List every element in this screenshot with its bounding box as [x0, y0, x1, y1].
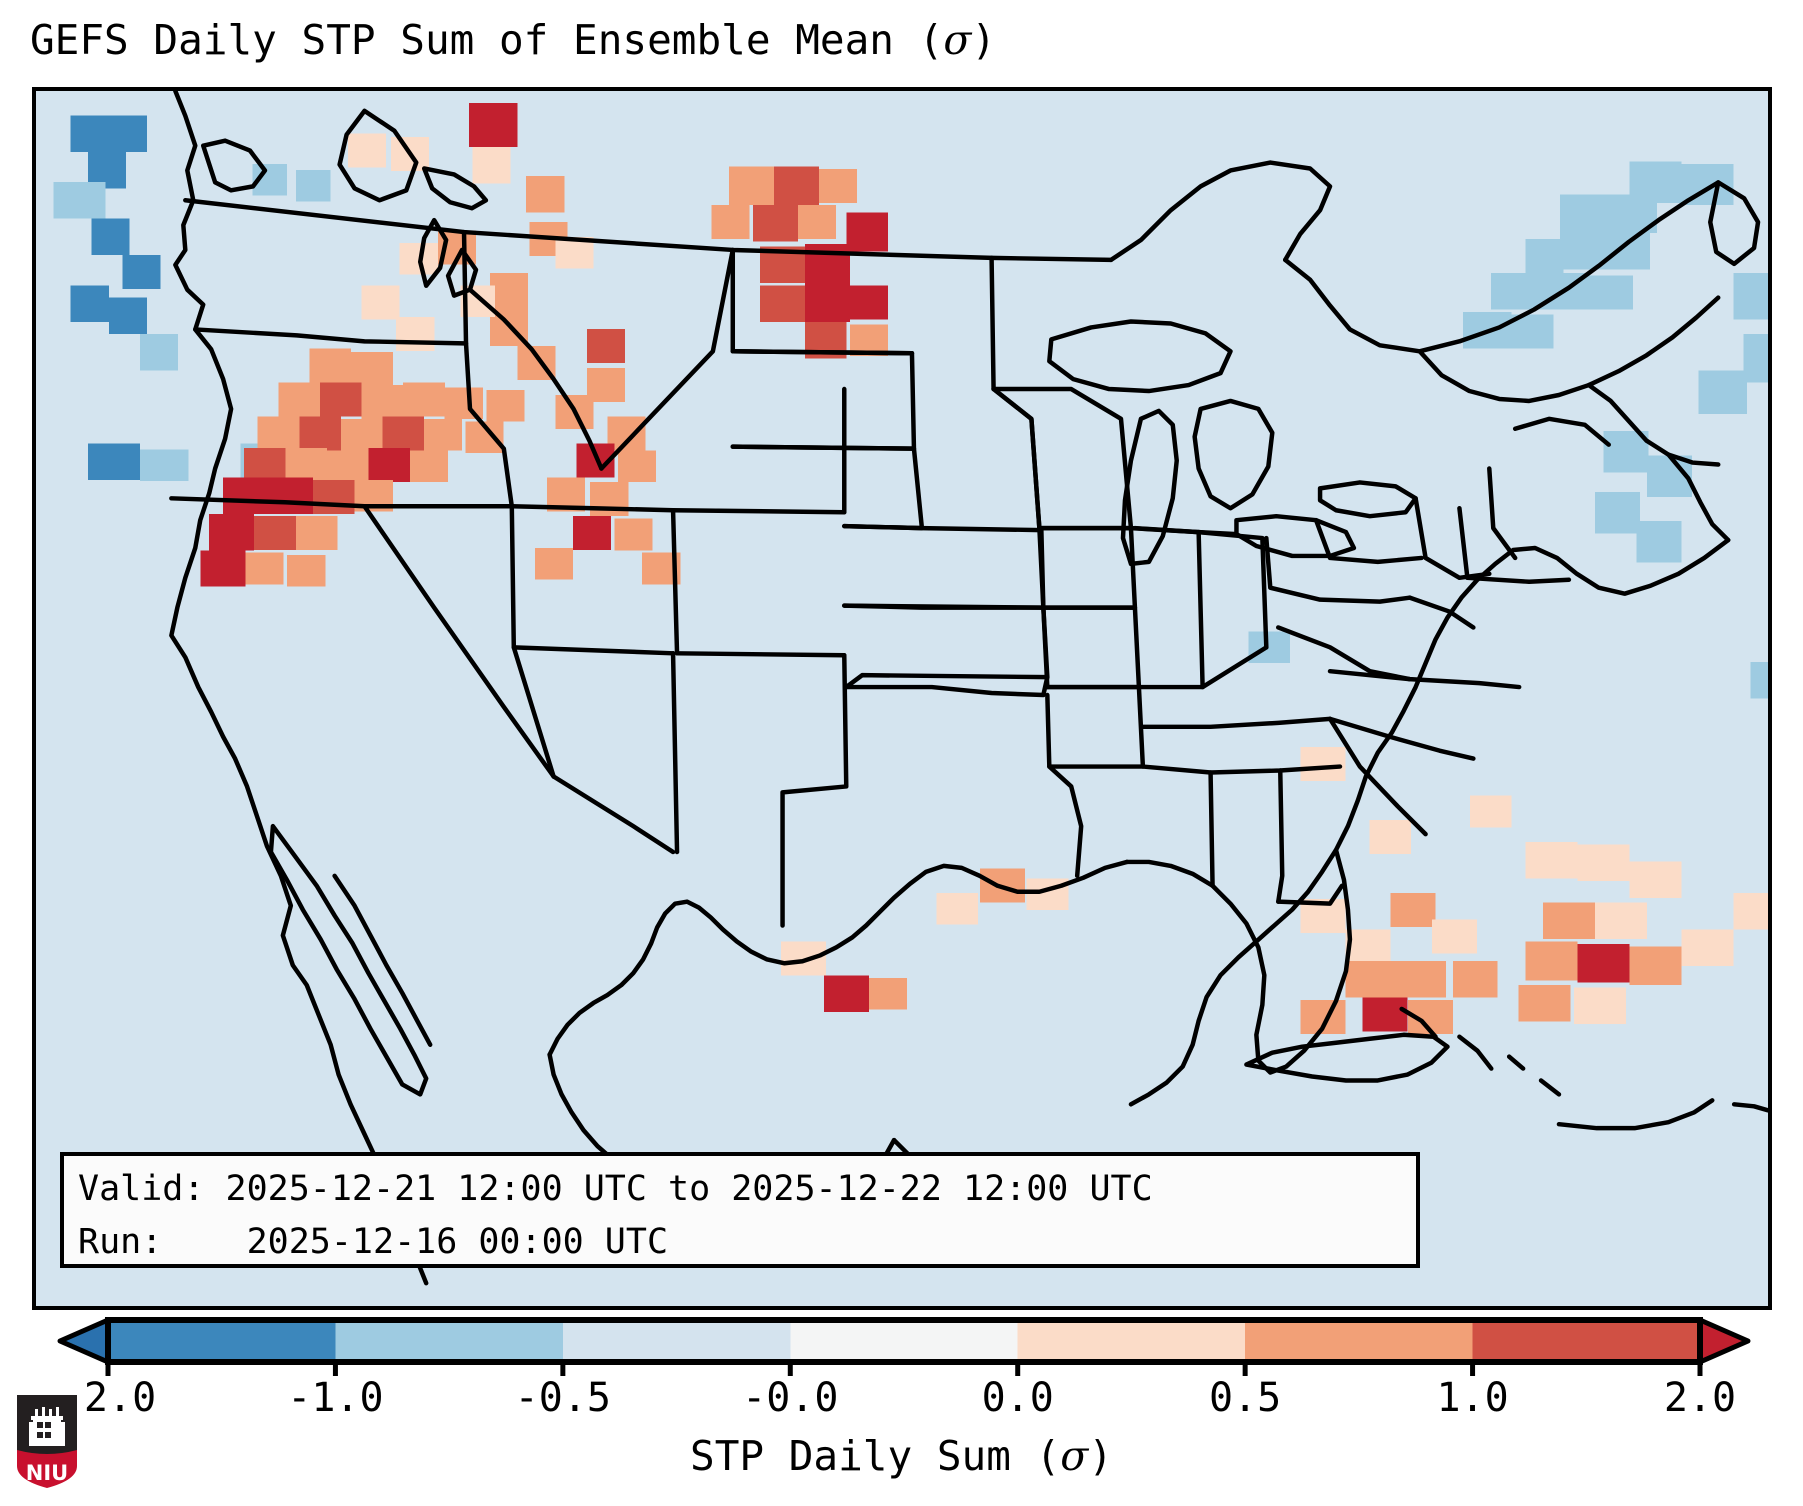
run-time-line: Run: 2025-12-16 00:00 UTC: [78, 1216, 1402, 1269]
heatmap-cell: [1519, 985, 1571, 1021]
heatmap-cell: [123, 255, 161, 289]
heatmap-cell: [140, 449, 188, 481]
heatmap-cell: [1751, 662, 1768, 698]
heatmap-cell: [753, 205, 798, 241]
colorbar-segment: [1473, 1320, 1700, 1362]
heatmap-cell: [1577, 844, 1629, 880]
state-border-ms-al: [1211, 773, 1213, 886]
colorbar-extend-high: [1700, 1320, 1748, 1362]
heatmap-cell: [285, 448, 327, 482]
heatmap-cell: [71, 115, 109, 151]
valid-time-line: Valid: 2025-12-21 12:00 UTC to 2025-12-2…: [78, 1163, 1402, 1216]
heatmap-cell: [1574, 988, 1626, 1024]
colorbar-tick-label: 2.0: [1664, 1375, 1736, 1421]
heatmap-cell: [71, 285, 109, 321]
heatmap-cell: [1588, 276, 1633, 310]
colorbar-axis-label: STP Daily Sum (σ): [0, 1432, 1803, 1480]
heatmap-cell: [201, 550, 246, 586]
heatmap-cell: [618, 451, 656, 483]
map-canvas: [36, 91, 1768, 1306]
heatmap-cell: [1345, 961, 1397, 997]
heatmap-cell: [396, 317, 434, 351]
heatmap-cell: [1681, 929, 1733, 965]
heatmap-cell: [244, 448, 286, 482]
map-plot-area[interactable]: [32, 87, 1772, 1310]
heatmap-cell: [382, 417, 424, 451]
heatmap-cell: [869, 978, 907, 1010]
heatmap-cell: [246, 553, 284, 585]
heatmap-cell: [526, 176, 564, 212]
colorbar-tick-labels: -2.0-1.0-0.5-0.00.00.51.02.0: [0, 1375, 1803, 1425]
heatmap-cell: [348, 134, 386, 168]
colorbar-segments: [60, 1320, 1748, 1362]
colorbar-tick-label: -0.5: [515, 1375, 611, 1421]
heatmap-cell: [53, 182, 105, 218]
heatmap-cell: [1390, 893, 1435, 927]
heatmap-cell: [299, 417, 341, 451]
colorbar-extend-low: [60, 1320, 108, 1362]
colorbar-segment: [790, 1320, 1017, 1362]
colorbar-segment: [108, 1320, 335, 1362]
heatmap-cell: [1629, 161, 1681, 202]
heatmap-cell: [729, 166, 774, 205]
heatmap-cell: [1526, 942, 1578, 981]
colorbar-segment: [563, 1320, 790, 1362]
colorbar-tick-label: 1.0: [1436, 1375, 1508, 1421]
info-box: Valid: 2025-12-21 12:00 UTC to 2025-12-2…: [60, 1152, 1420, 1268]
heatmap-cell: [1636, 521, 1681, 562]
niu-logo: NIU: [14, 1392, 80, 1490]
heatmap-cell: [1370, 820, 1412, 854]
heatmap-cell: [805, 244, 850, 283]
heatmap-cell: [469, 103, 517, 147]
niu-logo-text: NIU: [26, 1461, 68, 1485]
heatmap-cell: [254, 516, 296, 550]
state-border-co-wy: [673, 510, 844, 512]
heatmap-cell: [535, 548, 573, 580]
heatmap-cell: [1733, 273, 1768, 319]
heatmap-cell: [88, 443, 140, 479]
heatmap-cell: [1453, 961, 1498, 997]
heatmap-cell: [296, 170, 331, 202]
heatmap-cell: [1577, 944, 1629, 983]
heatmap-cell: [91, 219, 129, 255]
heatmap-cell: [573, 516, 611, 550]
heatmap-cell: [313, 480, 355, 514]
heatmap-cell: [1629, 861, 1681, 897]
heatmap-cell: [1543, 903, 1595, 939]
heatmap-cell: [278, 383, 320, 417]
colorbar-segment: [335, 1320, 562, 1362]
heatmap-cell: [209, 514, 254, 550]
heatmap-cell: [369, 448, 411, 482]
state-border-co-nm: [677, 653, 844, 655]
heatmap-cell: [1733, 893, 1768, 929]
heatmap-cell: [850, 285, 888, 319]
colorbar-tick-label: 0.0: [982, 1375, 1054, 1421]
heatmap-cell: [403, 383, 445, 417]
colorbar-sigma-glyph: σ: [1060, 1432, 1088, 1480]
heatmap-cell: [1491, 273, 1539, 309]
colorbar-tick-label: -1.0: [287, 1375, 383, 1421]
heatmap-cell: [472, 147, 510, 183]
heatmap-cell: [296, 516, 338, 550]
heatmap-cell: [1744, 334, 1768, 383]
heatmap-cell: [410, 451, 448, 483]
heatmap-cell: [310, 349, 352, 385]
colorbar-segment: [1018, 1320, 1245, 1362]
colorbar[interactable]: [0, 1316, 1803, 1376]
heatmap-cell: [798, 205, 836, 239]
heatmap-cell: [362, 285, 400, 319]
heatmap-cell: [424, 419, 462, 451]
heatmap-cell: [268, 477, 313, 513]
heatmap-cell: [109, 298, 147, 334]
heatmap-cell: [1248, 632, 1290, 664]
heatmap-cell: [327, 451, 369, 485]
heatmap-cell: [847, 213, 889, 252]
heatmap-cell: [258, 417, 300, 451]
page-title-suffix: ): [971, 16, 996, 64]
colorbar-label-suffix: ): [1088, 1432, 1113, 1480]
heatmap-cell: [587, 329, 625, 363]
page-title: GEFS Daily STP Sum of Ensemble Mean (σ): [30, 16, 996, 64]
heatmap-cell: [1699, 370, 1747, 414]
heatmap-cell: [1526, 842, 1578, 878]
heatmap-cell: [140, 334, 178, 370]
heatmap-cell: [937, 893, 979, 925]
heatmap-cell: [1363, 997, 1408, 1031]
colorbar-tick-label: -0.0: [742, 1375, 838, 1421]
heatmap-cell: [1432, 920, 1477, 954]
heatmap-cell: [824, 975, 869, 1011]
page-title-prefix: GEFS Daily STP Sum of Ensemble Mean (: [30, 16, 943, 64]
colorbar-tick-label: 0.5: [1209, 1375, 1281, 1421]
heatmap-cell: [287, 555, 325, 587]
colorbar-segment: [1245, 1320, 1472, 1362]
heatmap-cell: [1605, 233, 1650, 269]
heatmap-cell: [774, 166, 819, 205]
heatmap-cell: [362, 385, 404, 419]
heatmap-cell: [1629, 946, 1681, 985]
heatmap-cell: [1397, 961, 1445, 997]
heatmap-cell: [109, 115, 147, 151]
heatmap-cell: [486, 390, 524, 422]
sigma-glyph: σ: [943, 16, 971, 64]
heatmap-cell: [805, 283, 850, 322]
colorbar-svg: [0, 1316, 1803, 1376]
heatmap-cell: [711, 205, 749, 239]
colorbar-label-prefix: STP Daily Sum (: [690, 1432, 1060, 1480]
heatmap-cell: [1595, 492, 1640, 533]
heatmap-cell: [1470, 796, 1512, 828]
heatmap-cell: [615, 519, 653, 551]
heatmap-cell: [1560, 194, 1612, 233]
heatmap-cell: [781, 942, 826, 976]
heatmap-cell: [1345, 929, 1390, 963]
heatmap-cell: [1526, 239, 1564, 273]
heatmap-cell: [760, 285, 805, 321]
heatmap-cell: [819, 169, 857, 203]
heatmap-cell: [223, 477, 268, 513]
heatmap-cell: [341, 419, 383, 453]
heatmap-cell: [490, 273, 528, 309]
state-border-wa-id: [464, 232, 466, 343]
heatmap-cell: [1300, 747, 1345, 781]
heatmap-cell: [320, 383, 362, 417]
heatmap-cell: [1595, 903, 1647, 939]
heatmap-cell: [1027, 878, 1069, 910]
